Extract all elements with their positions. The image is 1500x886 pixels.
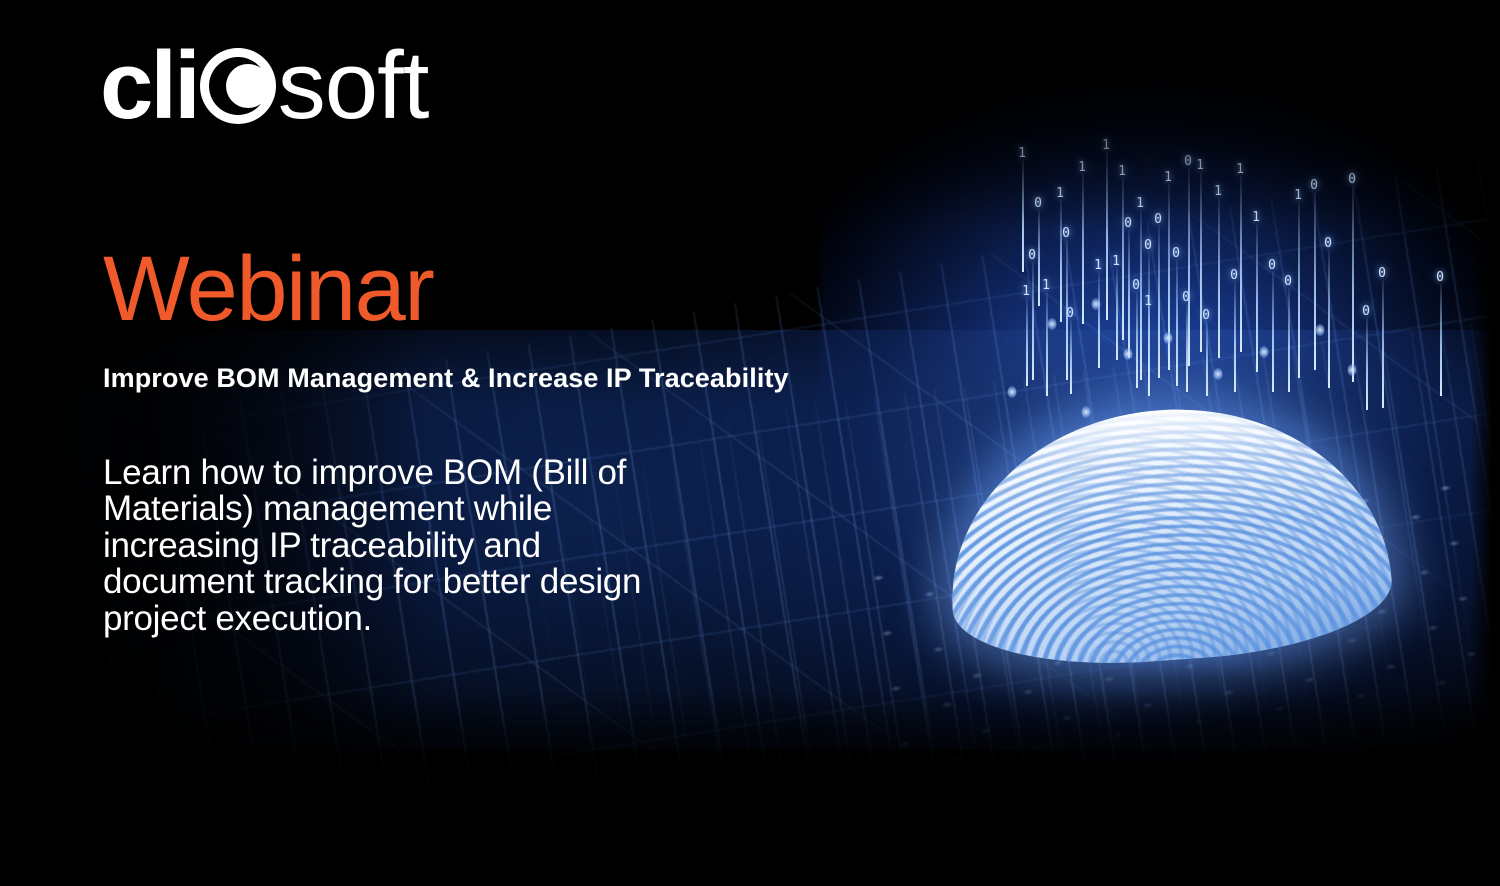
body-line: increasing IP traceability and — [103, 528, 723, 564]
body-line: Materials) management while — [103, 491, 723, 527]
body-line: document tracking for better design — [103, 564, 723, 600]
webinar-banner: 11011010110101010101001010101001000000 c… — [0, 0, 1500, 886]
body-line: Learn how to improve BOM (Bill of — [103, 455, 723, 491]
webinar-description: Learn how to improve BOM (Bill of Materi… — [103, 455, 723, 637]
logo-o-inner-dot — [226, 64, 270, 108]
logo-o-crescent-icon — [200, 48, 276, 124]
logo-text-soft: soft — [278, 38, 429, 134]
banner-content: cli soft Webinar Improve BOM Management … — [0, 0, 1500, 886]
page-title: Webinar — [103, 243, 433, 335]
webinar-subtitle: Improve BOM Management & Increase IP Tra… — [103, 363, 789, 394]
logo-text-cli: cli — [100, 38, 198, 134]
cliosoft-logo: cli soft — [100, 34, 428, 138]
body-line: project execution. — [103, 601, 723, 637]
